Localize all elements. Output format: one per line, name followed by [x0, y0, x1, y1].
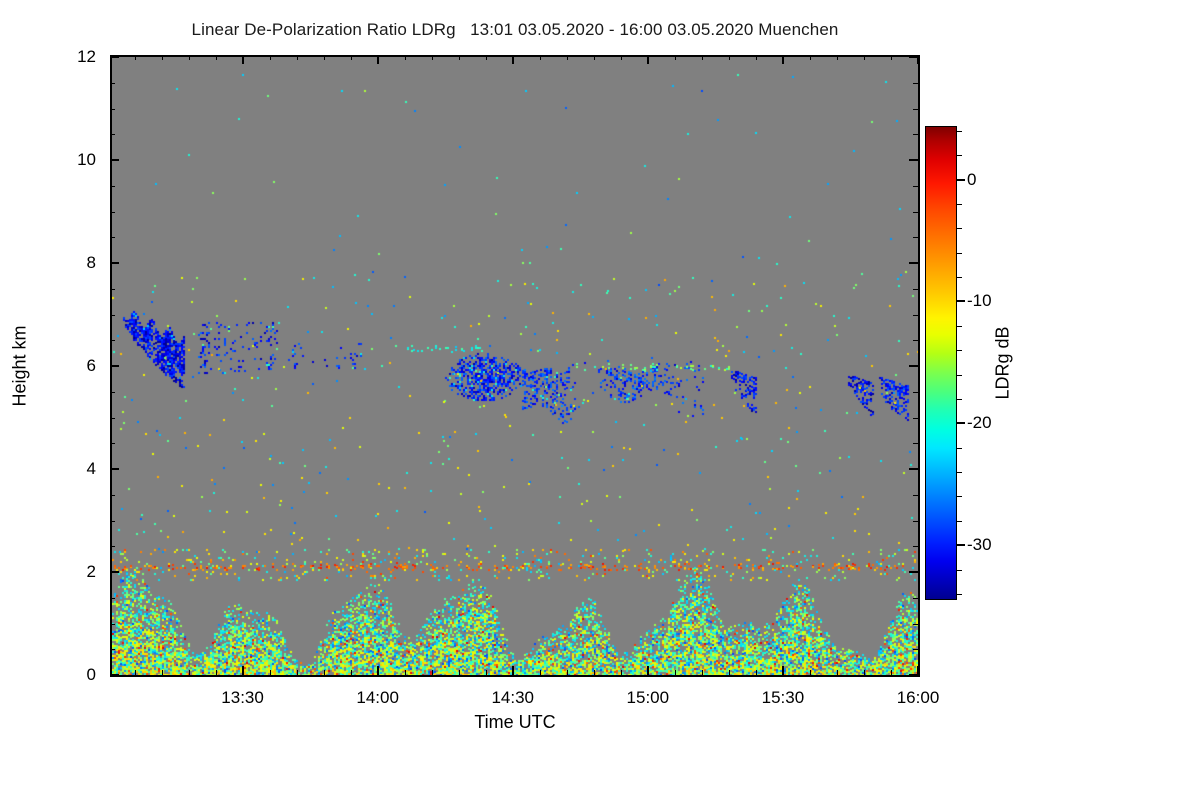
x-tick-major: [242, 666, 244, 675]
y-tick-minor-right: [913, 649, 918, 650]
y-tick-label: 12: [77, 47, 96, 67]
x-tick-major: [647, 666, 649, 675]
colorbar-tick-minor: [957, 594, 962, 595]
x-tick-minor: [756, 670, 757, 675]
x-tick-minor-top: [351, 55, 352, 60]
x-tick-major: [512, 666, 514, 675]
y-tick-minor-right: [913, 186, 918, 187]
x-tick-minor-top: [540, 55, 541, 60]
y-tick-minor: [110, 237, 115, 238]
colorbar-tick-minor: [957, 277, 962, 278]
y-tick-minor-right: [913, 237, 918, 238]
y-tick-minor: [110, 443, 115, 444]
y-tick-major-right: [909, 365, 918, 367]
x-tick-minor: [621, 670, 622, 675]
y-tick-label: 10: [77, 150, 96, 170]
x-tick-minor-top: [135, 55, 136, 60]
y-tick-major-right: [909, 159, 918, 161]
y-tick-minor-right: [913, 624, 918, 625]
x-tick-label: 15:00: [627, 688, 670, 708]
y-tick-label: 0: [87, 665, 96, 685]
y-tick-major-right: [909, 468, 918, 470]
colorbar-tick-minor: [957, 204, 962, 205]
x-tick-major: [782, 666, 784, 675]
colorbar-tick-minor: [957, 253, 962, 254]
x-tick-minor: [702, 670, 703, 675]
x-tick-minor-top: [891, 55, 892, 60]
y-tick-minor: [110, 521, 115, 522]
colorbar-tick-minor: [957, 228, 962, 229]
y-tick-major-right: [909, 571, 918, 573]
y-tick-minor: [110, 315, 115, 316]
x-tick-minor: [486, 670, 487, 675]
colorbar-tick-label: -20: [967, 413, 992, 433]
x-tick-minor-top: [486, 55, 487, 60]
x-tick-major-top: [512, 55, 514, 64]
x-tick-major-top: [377, 55, 379, 64]
y-tick-minor-right: [913, 315, 918, 316]
colorbar-tick-label: -30: [967, 535, 992, 555]
y-tick-minor-right: [913, 340, 918, 341]
x-tick-minor-top: [432, 55, 433, 60]
x-tick-minor: [675, 670, 676, 675]
colorbar-tick-label: 0: [967, 170, 976, 190]
y-tick-minor-right: [913, 418, 918, 419]
y-tick-minor-right: [913, 109, 918, 110]
y-tick-minor: [110, 340, 115, 341]
x-tick-minor: [405, 670, 406, 675]
y-tick-major-right: [909, 56, 918, 58]
x-tick-minor: [189, 670, 190, 675]
x-tick-minor: [270, 670, 271, 675]
y-tick-minor-right: [913, 598, 918, 599]
y-tick-minor: [110, 495, 115, 496]
y-tick-major: [110, 262, 119, 264]
colorbar-tick-minor: [957, 521, 962, 522]
x-tick-label: 14:00: [356, 688, 399, 708]
x-tick-label: 15:30: [762, 688, 805, 708]
x-tick-minor-top: [594, 55, 595, 60]
x-tick-major: [377, 666, 379, 675]
y-tick-label: 2: [87, 562, 96, 582]
x-tick-minor: [324, 670, 325, 675]
x-tick-label: 16:00: [897, 688, 940, 708]
y-tick-minor-right: [913, 443, 918, 444]
colorbar-tick-minor: [957, 350, 962, 351]
y-tick-major: [110, 56, 119, 58]
x-tick-minor: [135, 670, 136, 675]
y-tick-minor: [110, 546, 115, 547]
x-tick-minor-top: [810, 55, 811, 60]
y-tick-minor-right: [913, 521, 918, 522]
x-tick-minor: [891, 670, 892, 675]
y-tick-minor-right: [913, 546, 918, 547]
y-tick-major: [110, 571, 119, 573]
x-tick-minor-top: [621, 55, 622, 60]
colorbar-tick-major: [957, 300, 965, 302]
x-tick-minor-top: [864, 55, 865, 60]
y-tick-minor: [110, 83, 115, 84]
x-tick-minor: [729, 670, 730, 675]
page-title: Linear De-Polarization Ratio LDRg 13:01 …: [0, 20, 1030, 40]
y-tick-label: 8: [87, 253, 96, 273]
x-tick-minor: [297, 670, 298, 675]
y-tick-minor: [110, 624, 115, 625]
colorbar[interactable]: [925, 126, 957, 600]
x-tick-minor-top: [729, 55, 730, 60]
colorbar-tick-minor: [957, 326, 962, 327]
colorbar-tick-major: [957, 422, 965, 424]
x-tick-minor: [864, 670, 865, 675]
y-tick-minor-right: [913, 212, 918, 213]
colorbar-tick-minor: [957, 399, 962, 400]
y-tick-major: [110, 159, 119, 161]
colorbar-tick-major: [957, 544, 965, 546]
y-tick-minor: [110, 392, 115, 393]
y-tick-major: [110, 674, 119, 676]
colorbar-tick-minor: [957, 496, 962, 497]
y-tick-major: [110, 468, 119, 470]
x-tick-minor-top: [567, 55, 568, 60]
y-tick-minor: [110, 649, 115, 650]
x-tick-label: 13:30: [221, 688, 264, 708]
y-tick-major-right: [909, 262, 918, 264]
x-axis-title: Time UTC: [110, 712, 920, 733]
y-tick-major-right: [909, 674, 918, 676]
y-axis-title: Height km: [10, 325, 31, 406]
y-tick-minor: [110, 109, 115, 110]
x-tick-minor-top: [297, 55, 298, 60]
y-tick-minor: [110, 134, 115, 135]
x-tick-minor: [567, 670, 568, 675]
x-tick-minor: [837, 670, 838, 675]
ldr-time-height-figure: Linear De-Polarization Ratio LDRg 13:01 …: [0, 0, 1200, 800]
colorbar-gradient: [925, 126, 957, 600]
y-tick-minor-right: [913, 134, 918, 135]
y-tick-minor: [110, 418, 115, 419]
y-tick-minor-right: [913, 289, 918, 290]
x-tick-minor: [351, 670, 352, 675]
y-tick-minor-right: [913, 495, 918, 496]
x-tick-major-top: [242, 55, 244, 64]
y-tick-label: 6: [87, 356, 96, 376]
y-tick-label: 4: [87, 459, 96, 479]
y-tick-major: [110, 365, 119, 367]
x-tick-minor-top: [405, 55, 406, 60]
x-tick-minor-top: [756, 55, 757, 60]
x-tick-minor-top: [324, 55, 325, 60]
x-tick-minor: [216, 670, 217, 675]
y-tick-minor: [110, 186, 115, 187]
x-tick-label: 14:30: [491, 688, 534, 708]
x-tick-major-top: [647, 55, 649, 64]
colorbar-tick-minor: [957, 375, 962, 376]
plot-area[interactable]: [110, 55, 920, 677]
heatmap-canvas: [112, 57, 918, 675]
x-tick-minor: [594, 670, 595, 675]
x-tick-minor-top: [216, 55, 217, 60]
colorbar-tick-major: [957, 179, 965, 181]
x-tick-minor-top: [162, 55, 163, 60]
colorbar-tick-minor: [957, 155, 962, 156]
x-tick-minor: [540, 670, 541, 675]
y-tick-minor: [110, 212, 115, 213]
x-tick-minor: [810, 670, 811, 675]
x-tick-major-top: [782, 55, 784, 64]
x-tick-minor: [162, 670, 163, 675]
y-tick-minor: [110, 289, 115, 290]
x-tick-minor-top: [459, 55, 460, 60]
x-tick-minor-top: [675, 55, 676, 60]
colorbar-tick-label: -10: [967, 291, 992, 311]
colorbar-title: LDRg dB: [993, 326, 1014, 399]
x-tick-minor: [459, 670, 460, 675]
x-tick-minor-top: [189, 55, 190, 60]
x-tick-minor-top: [837, 55, 838, 60]
x-tick-minor-top: [702, 55, 703, 60]
x-tick-minor-top: [270, 55, 271, 60]
colorbar-tick-minor: [957, 448, 962, 449]
y-tick-minor: [110, 598, 115, 599]
x-tick-minor: [432, 670, 433, 675]
y-tick-minor-right: [913, 392, 918, 393]
colorbar-tick-minor: [957, 131, 962, 132]
colorbar-tick-minor: [957, 570, 962, 571]
colorbar-tick-minor: [957, 472, 962, 473]
y-tick-minor-right: [913, 83, 918, 84]
